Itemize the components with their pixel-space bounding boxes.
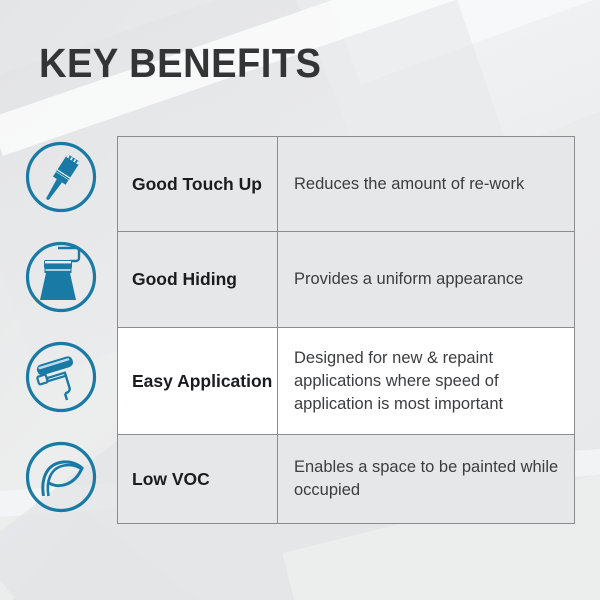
table-row: Good Hiding Provides a uniform appearanc… xyxy=(118,232,574,328)
benefit-description: Reduces the amount of re-work xyxy=(278,137,574,231)
benefit-name: Easy Application xyxy=(118,328,278,434)
benefit-name: Good Hiding xyxy=(118,232,278,327)
benefit-description: Enables a space to be painted while occu… xyxy=(278,435,574,523)
paint-brush-icon xyxy=(25,141,97,213)
page-title: KEY BENEFITS xyxy=(39,41,321,85)
benefits-table: Good Touch Up Reduces the amount of re-w… xyxy=(117,136,575,524)
table-row: Good Touch Up Reduces the amount of re-w… xyxy=(118,137,574,232)
paint-roller-icon xyxy=(25,341,97,413)
benefit-description: Provides a uniform appearance xyxy=(278,232,574,327)
benefit-name: Good Touch Up xyxy=(118,137,278,231)
table-row: Easy Application Designed for new & repa… xyxy=(118,328,574,435)
benefit-name: Low VOC xyxy=(118,435,278,523)
table-row: Low VOC Enables a space to be painted wh… xyxy=(118,435,574,523)
benefit-description: Designed for new & repaint applications … xyxy=(278,328,574,434)
paint-roller-stroke-icon xyxy=(25,241,97,313)
leaf-icon xyxy=(25,441,97,513)
